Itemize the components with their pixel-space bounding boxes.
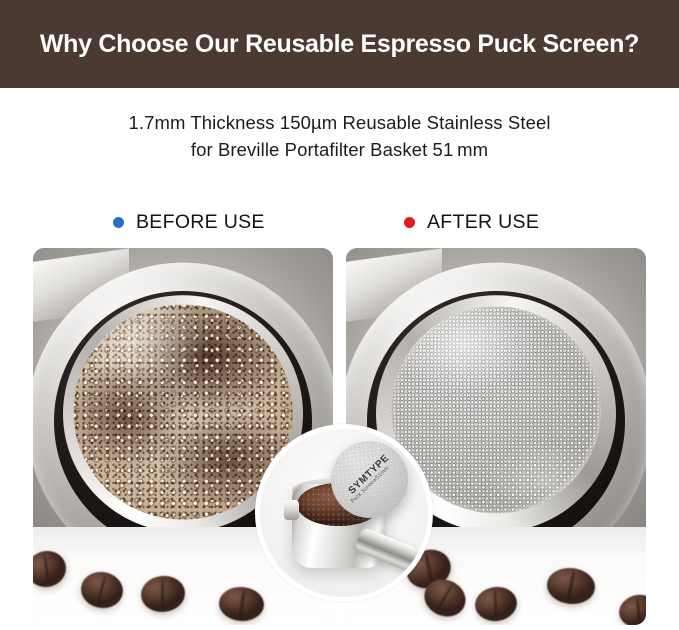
subtitle-line-1: 1.7mm Thickness 150µm Reusable Stainless… — [0, 109, 679, 136]
inset-scene: SYMTYPE Puck Screen/51mm — [260, 429, 428, 597]
after-use-label: AFTER USE — [427, 211, 539, 234]
page-title: Why Choose Our Reusable Espresso Puck Sc… — [40, 30, 639, 59]
blue-bullet-dot-icon — [113, 217, 124, 228]
subtitle-block: 1.7mm Thickness 150µm Reusable Stainless… — [0, 88, 679, 163]
header-banner: Why Choose Our Reusable Espresso Puck Sc… — [0, 0, 679, 88]
subtitle-line-2: for Breville Portafilter Basket 51 mm — [0, 136, 679, 163]
before-use-label: BEFORE USE — [136, 211, 265, 234]
comparison-legend-row: BEFORE USE AFTER USE — [0, 211, 679, 241]
legend-item-before-use: BEFORE USE — [113, 211, 265, 234]
red-bullet-dot-icon — [404, 217, 415, 228]
product-inset-callout: SYMTYPE Puck Screen/51mm — [255, 424, 433, 602]
portafilter-lug — [284, 500, 299, 520]
legend-item-after-use: AFTER USE — [404, 211, 539, 234]
